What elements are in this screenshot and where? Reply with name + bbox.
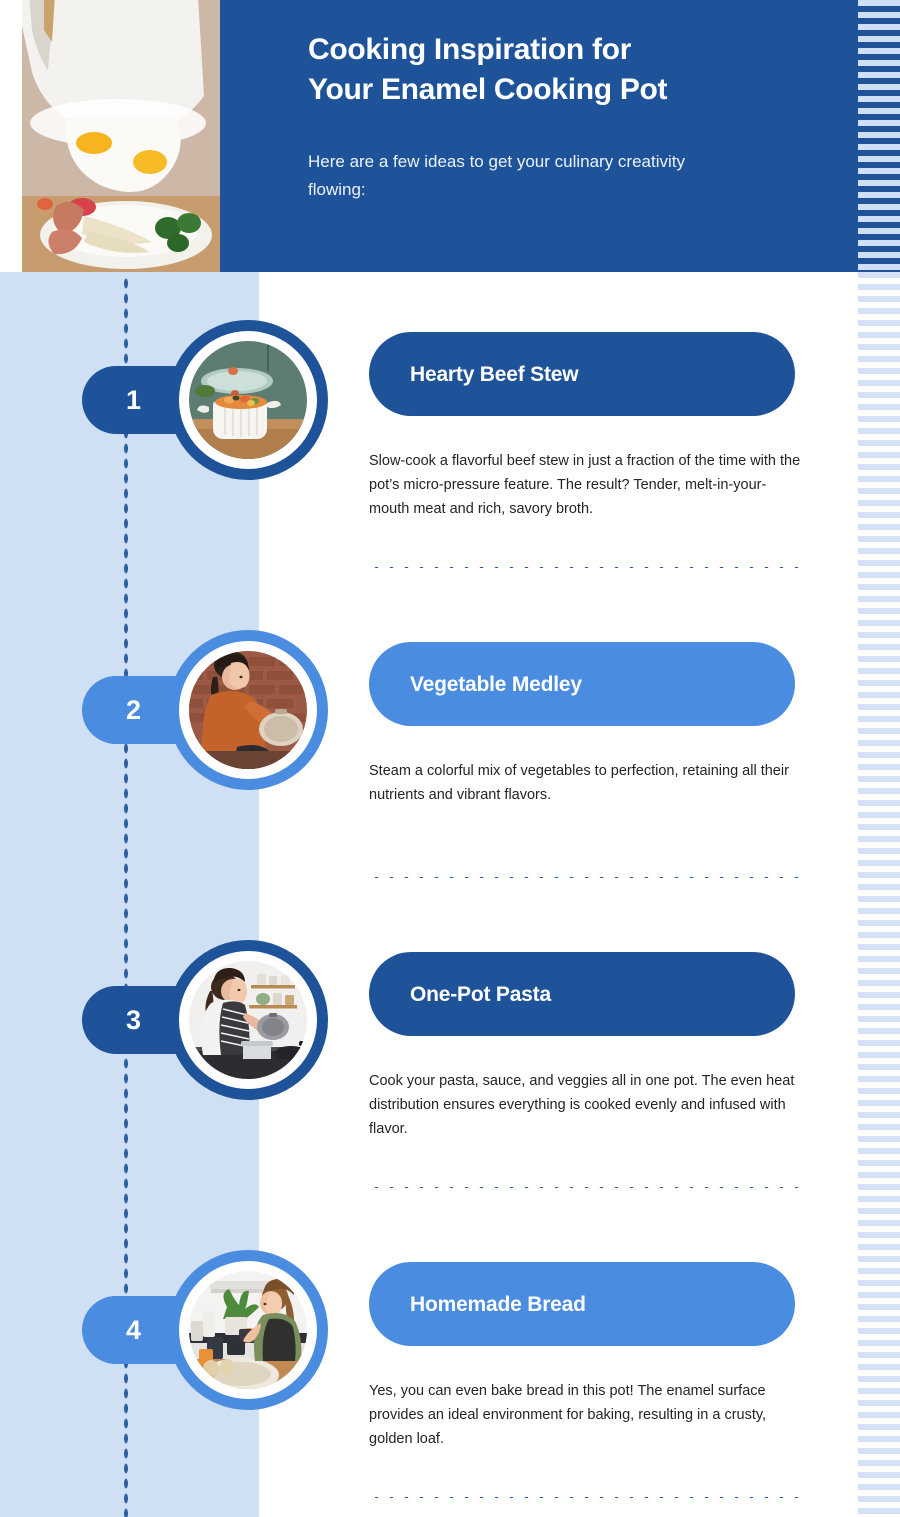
step-title-3: One-Pot Pasta: [369, 984, 551, 1005]
circle-white-ring-1: [179, 331, 317, 469]
step-title-pill-2[interactable]: Vegetable Medley: [369, 642, 795, 726]
circle-white-ring-3: [179, 951, 317, 1089]
step-photo-3: [189, 961, 307, 1079]
section-divider-1: [369, 565, 809, 570]
step-title-4: Homemade Bread: [369, 1294, 586, 1315]
step-body-2: Steam a colorful mix of vegetables to pe…: [369, 760, 801, 808]
step-title-pill-1[interactable]: Hearty Beef Stew: [369, 332, 795, 416]
step-photo-1: [189, 341, 307, 459]
infographic-page: Cooking Inspiration for Your Enamel Cook…: [0, 0, 900, 1517]
circle-white-ring-4: [179, 1261, 317, 1399]
right-stripe-pattern-dark: [858, 0, 900, 272]
step-title-2: Vegetable Medley: [369, 674, 582, 695]
page-subtitle: Here are a few ideas to get your culinar…: [308, 148, 738, 203]
header-photo-image: [22, 0, 220, 272]
section-divider-3: [369, 1185, 809, 1190]
header-photo: [22, 0, 220, 272]
section-divider-4: [369, 1495, 809, 1500]
step-photo-2: [189, 651, 307, 769]
right-stripe-pattern-light: [858, 272, 900, 1517]
step-image-circle-1: [168, 320, 328, 480]
circle-white-ring-2: [179, 641, 317, 779]
step-title-1: Hearty Beef Stew: [369, 364, 578, 385]
page-title: Cooking Inspiration for Your Enamel Cook…: [308, 30, 828, 109]
step-title-pill-4[interactable]: Homemade Bread: [369, 1262, 795, 1346]
page-title-line2: Your Enamel Cooking Pot: [308, 70, 828, 110]
section-divider-2: [369, 875, 809, 880]
step-body-3: Cook your pasta, sauce, and veggies all …: [369, 1070, 801, 1142]
step-body-4: Yes, you can even bake bread in this pot…: [369, 1380, 801, 1452]
page-title-line1: Cooking Inspiration for: [308, 30, 828, 70]
step-body-1: Slow-cook a flavorful beef stew in just …: [369, 450, 801, 522]
step-title-pill-3[interactable]: One-Pot Pasta: [369, 952, 795, 1036]
step-image-circle-4: [168, 1250, 328, 1410]
step-image-circle-2: [168, 630, 328, 790]
step-image-circle-3: [168, 940, 328, 1100]
step-photo-4: [189, 1271, 307, 1389]
